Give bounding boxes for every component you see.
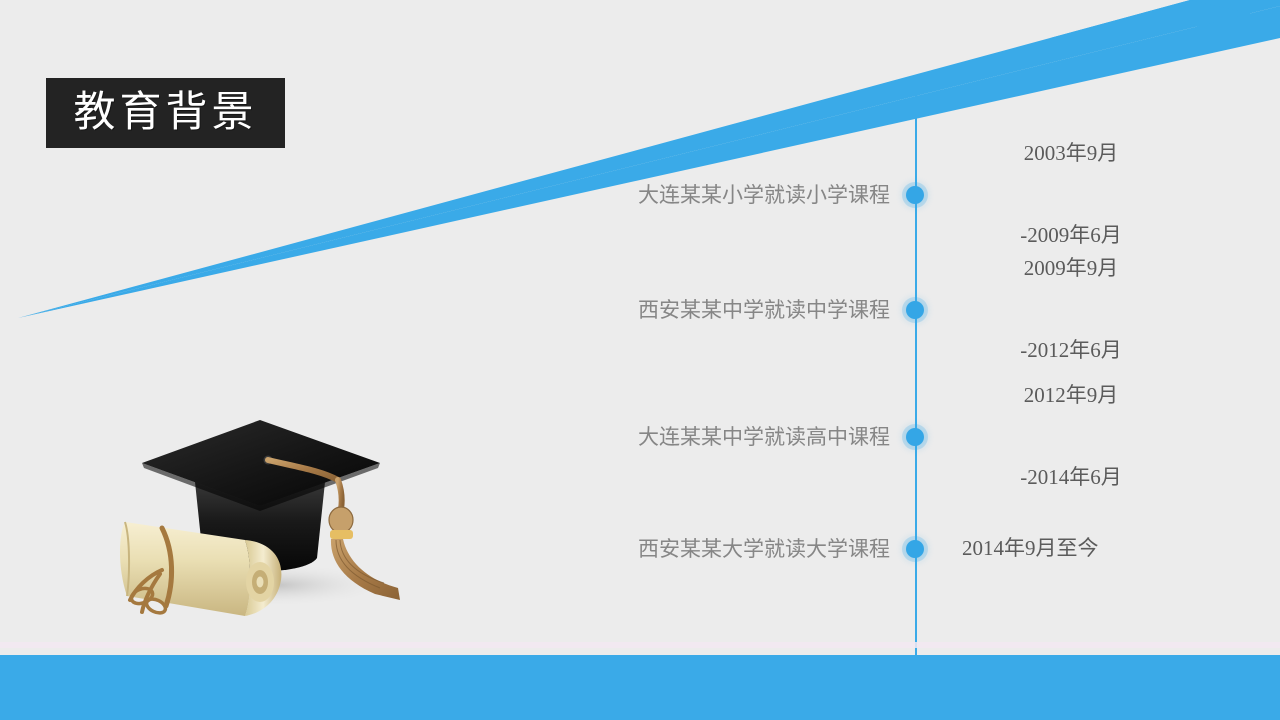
timeline-dot-icon: [906, 301, 924, 319]
timeline-date-end-3: -2014年6月: [962, 464, 1180, 491]
timeline-date-4: 2014年9月至今: [940, 535, 1180, 562]
timeline-date-start-3: 2012年9月: [962, 382, 1180, 409]
timeline-node-1: [890, 186, 940, 204]
timeline-dot-icon: [906, 428, 924, 446]
timeline-node-2: [890, 301, 940, 319]
timeline-school-4: 西安某某大学就读大学课程: [560, 536, 890, 562]
timeline-date-start-2: 2009年9月: [962, 255, 1180, 282]
page-title-box: 教育背景: [46, 78, 285, 148]
timeline-school-1: 大连某某小学就读小学课程: [560, 182, 890, 208]
timeline-date-start-1: 2003年9月: [962, 140, 1180, 167]
slide-canvas: 教育背景: [0, 0, 1280, 720]
timeline-dot-icon: [906, 540, 924, 558]
blue-bottom-band: [0, 655, 1280, 720]
timeline-item-3[interactable]: 大连某某中学就读高中课程 2012年9月 -2014年6月: [560, 405, 1180, 469]
timeline-school-2: 西安某某中学就读中学课程: [560, 297, 890, 323]
graduation-cap-icon: [100, 410, 420, 630]
timeline-date-3: 2012年9月 -2014年6月: [940, 328, 1180, 546]
timeline-dot-icon: [906, 186, 924, 204]
faint-divider: [0, 642, 1280, 648]
timeline-node-3: [890, 428, 940, 446]
timeline-school-3: 大连某某中学就读高中课程: [560, 424, 890, 450]
timeline-date-start-4: 2014年9月至今: [962, 535, 1099, 562]
timeline-node-4: [890, 540, 940, 558]
timeline-item-4[interactable]: 西安某某大学就读大学课程 2014年9月至今: [560, 517, 1180, 581]
page-title: 教育背景: [73, 92, 257, 134]
